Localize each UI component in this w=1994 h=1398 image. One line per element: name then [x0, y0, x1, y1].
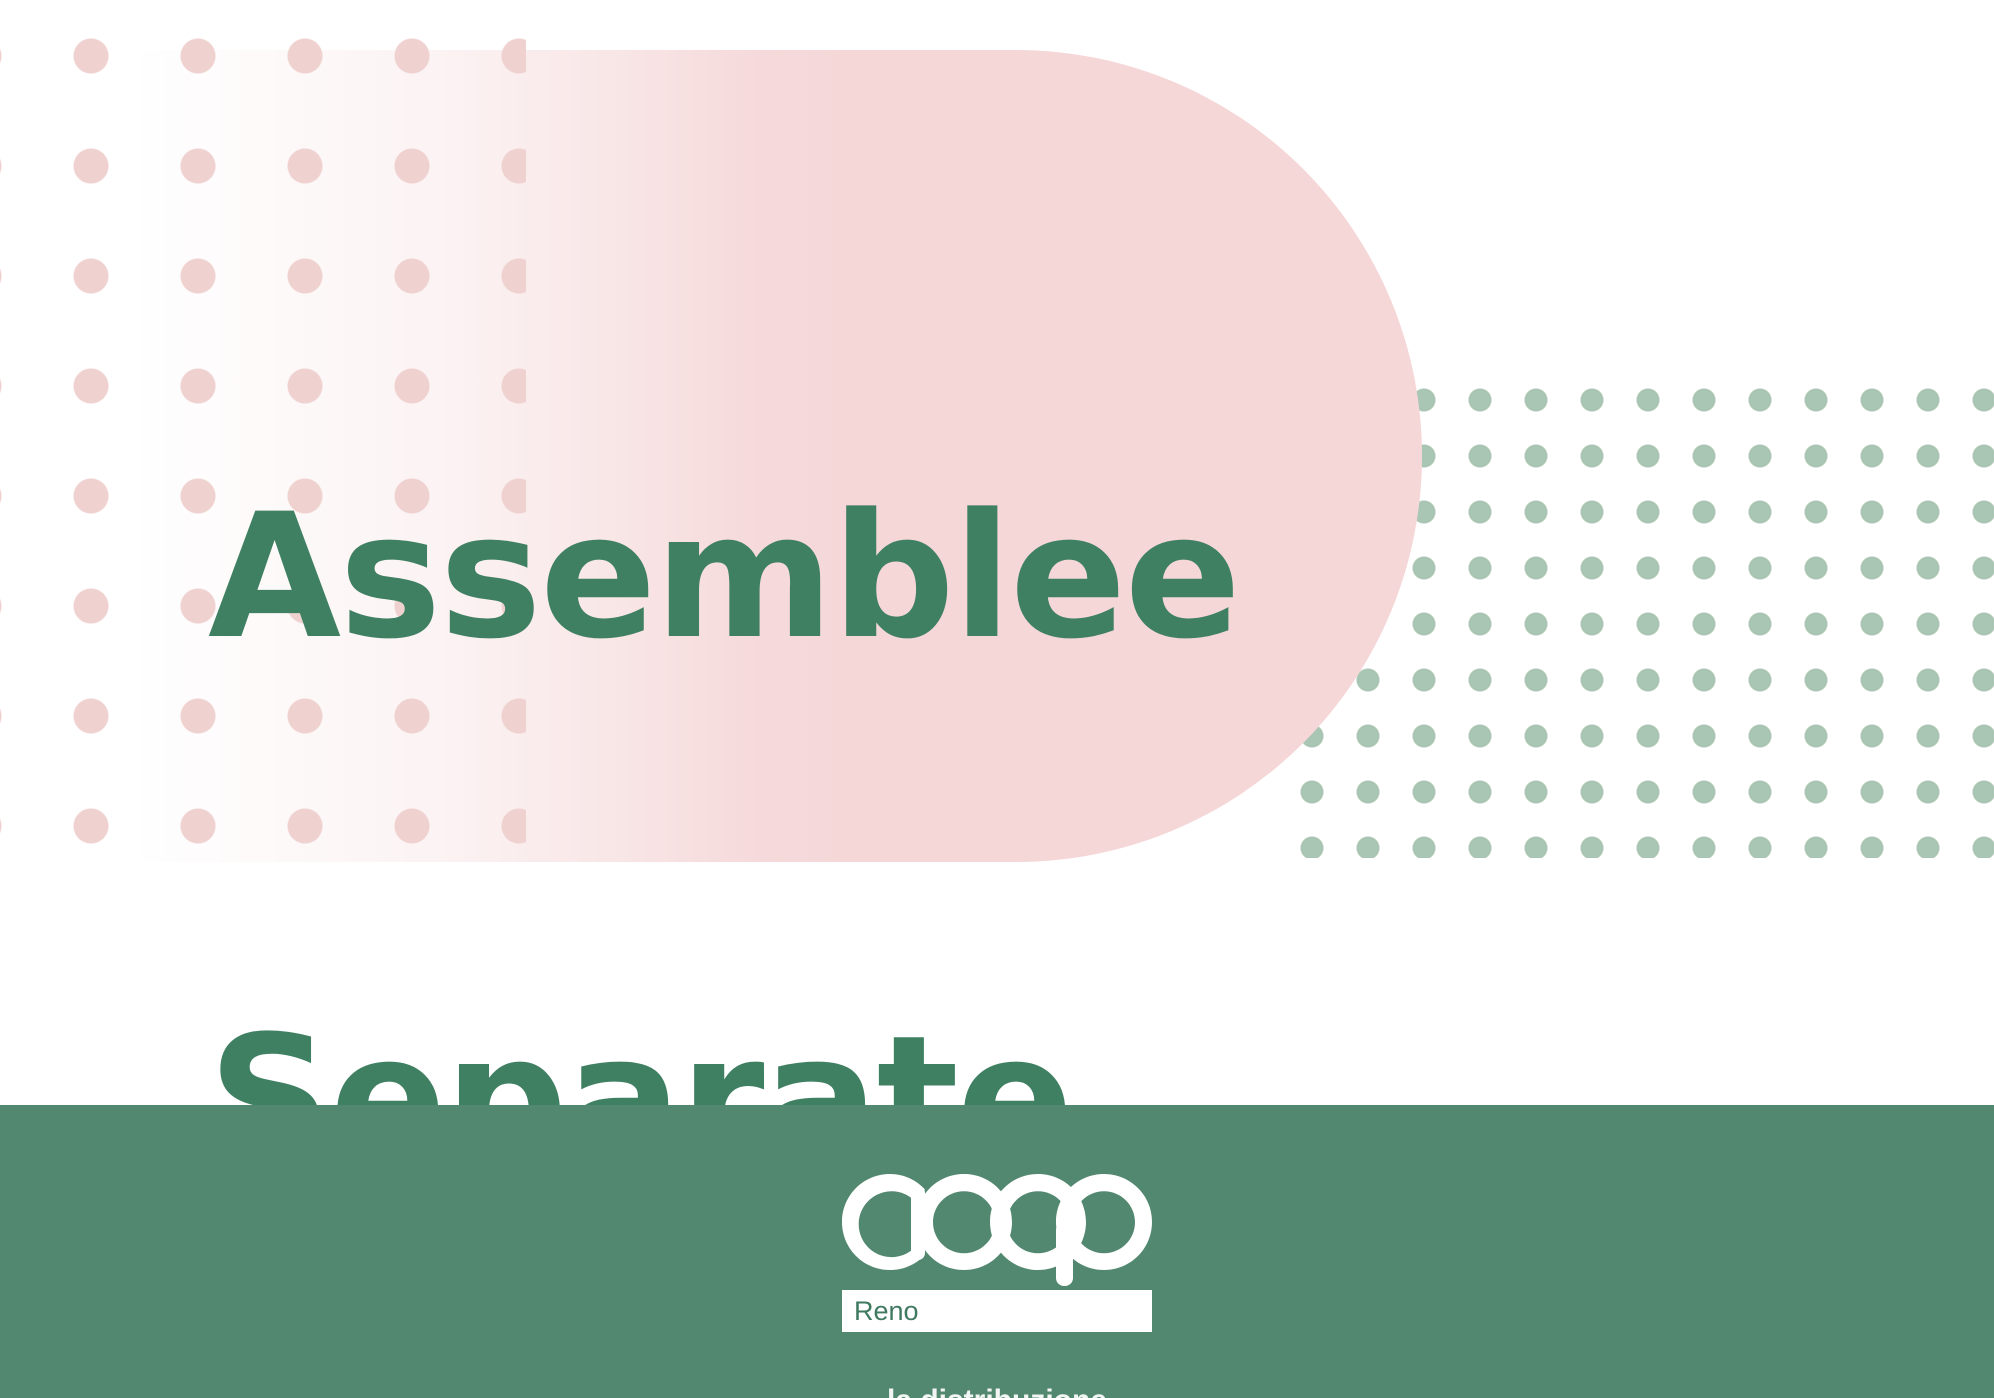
coop-wordmark-icon [842, 1168, 1152, 1286]
poster-canvas: Assemblee Separate di Bilancio 2025 Reno [0, 0, 1994, 1398]
reno-label-box: Reno [842, 1290, 1152, 1332]
reno-label: Reno [854, 1298, 919, 1325]
footer-tagline-clip: la distribuzione [767, 1386, 1227, 1398]
page-title-line-1: Assemblee [208, 490, 1723, 664]
coop-reno-logo: Reno [842, 1168, 1152, 1332]
footer-tagline: la distribuzione [767, 1386, 1227, 1398]
